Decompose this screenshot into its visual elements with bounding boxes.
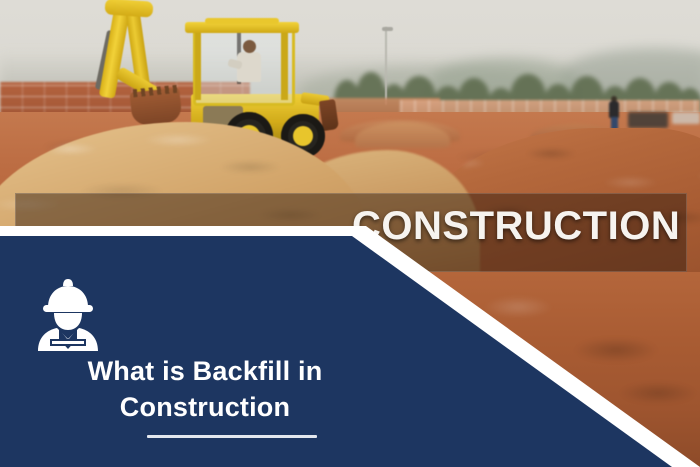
distant-vehicle: [628, 112, 668, 128]
page-title: What is Backfill in Construction: [60, 354, 350, 425]
title-underline-rule: [147, 435, 317, 438]
cab-roof-cap: [205, 18, 279, 24]
featured-image-canvas: CONSTRUCTION What is Backfill in Constru…: [0, 0, 700, 467]
site-worker-figure: [608, 96, 620, 132]
cab-pillar: [195, 28, 201, 100]
page-title-line-2: Construction: [60, 390, 350, 426]
cab-pillar: [281, 28, 288, 100]
light-pole-head: [382, 27, 393, 31]
boom-pivot: [105, 0, 154, 18]
overlay-band-text: CONSTRUCTION: [352, 206, 680, 246]
front-wheel-hub: [293, 126, 313, 146]
worker-torso: [609, 101, 619, 118]
construction-worker-icon: [30, 277, 106, 351]
operator-head: [243, 40, 256, 53]
page-title-line-1: What is Backfill in: [60, 354, 350, 390]
light-pole: [385, 27, 387, 105]
distant-vehicle: [672, 112, 700, 124]
